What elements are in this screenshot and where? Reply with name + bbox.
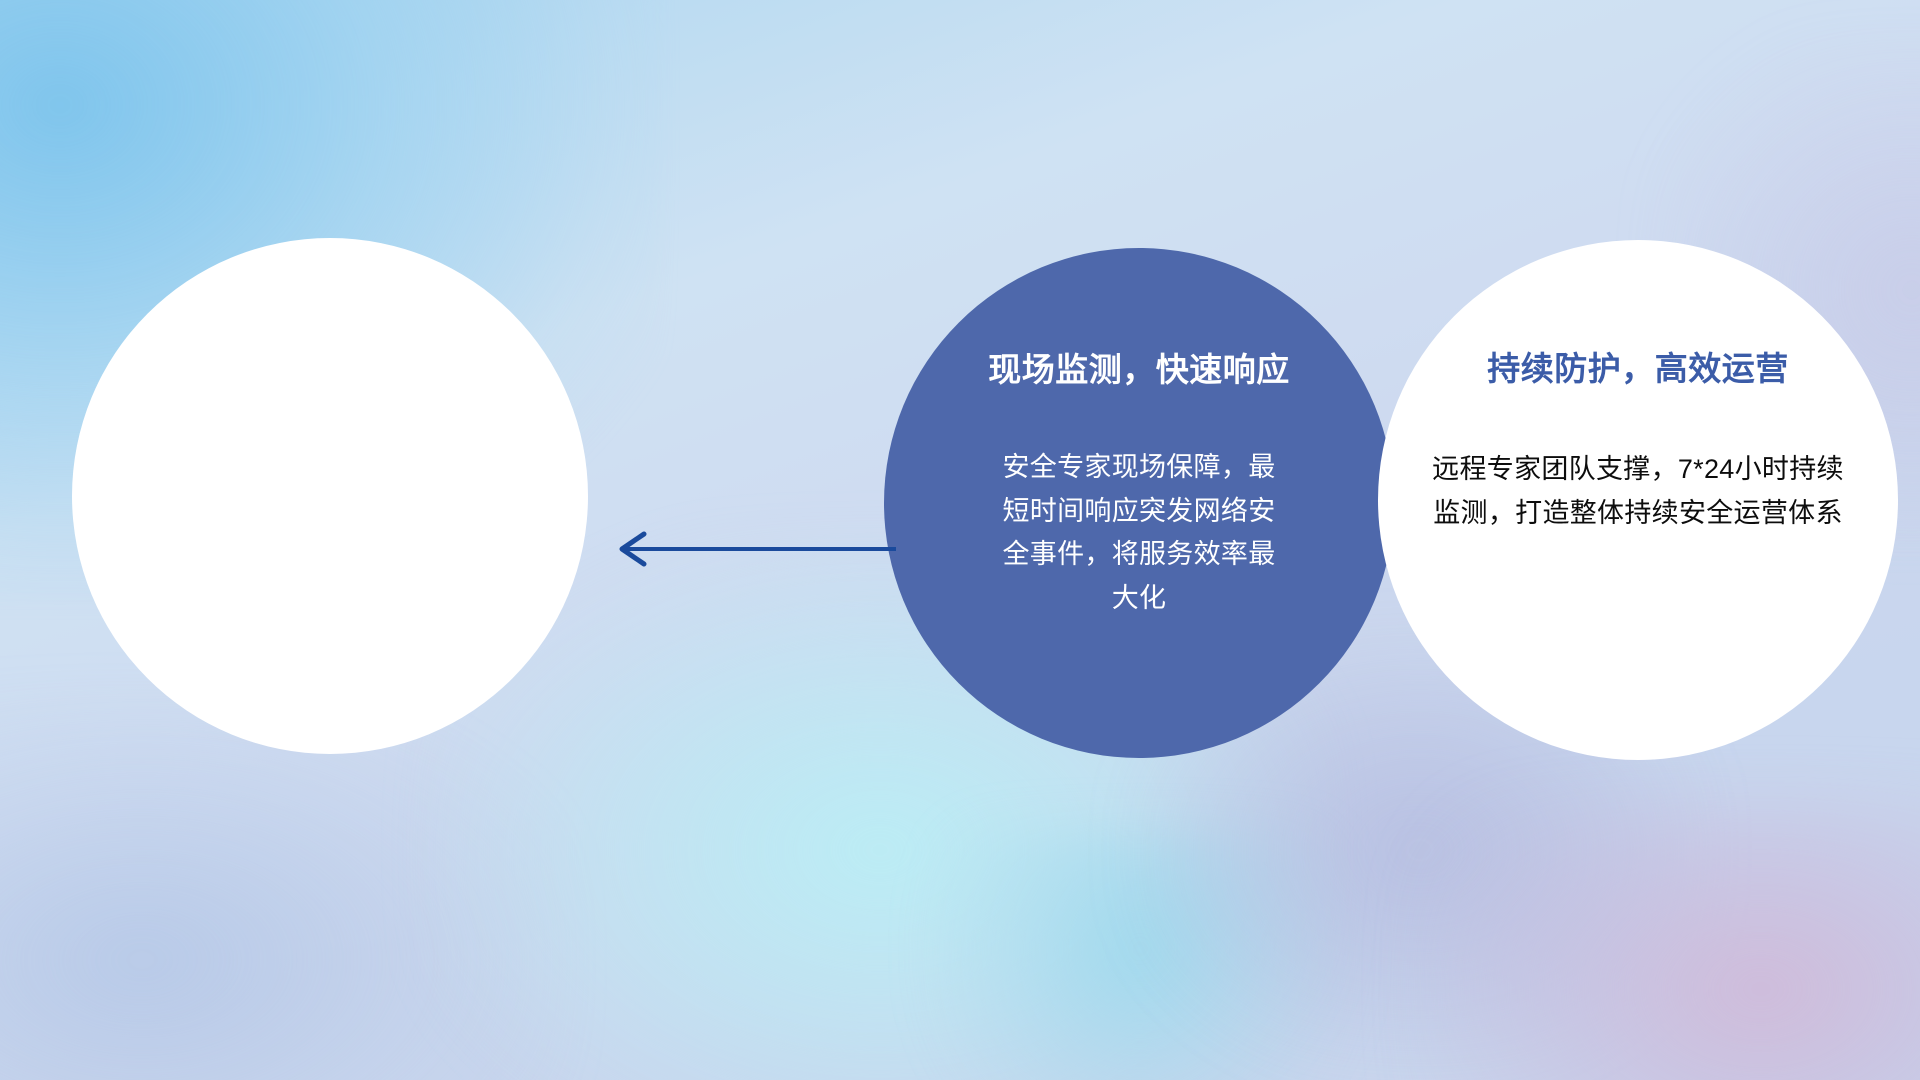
- right-circle-body: 远程专家团队支撑，7*24小时持续监测，打造整体持续安全运营体系: [1423, 448, 1853, 535]
- right-circle-content: 持续防护，高效运营 远程专家团队支撑，7*24小时持续监测，打造整体持续安全运营…: [1378, 240, 1898, 760]
- left-pointing-arrow-icon: [600, 520, 900, 580]
- right-circle-title: 持续防护，高效运营: [1487, 350, 1789, 388]
- slide-canvas: 驻场运维 日志分析 持续加固 应急响应 意识培训 现场监测，快速响应 安全专家现…: [0, 0, 1920, 1080]
